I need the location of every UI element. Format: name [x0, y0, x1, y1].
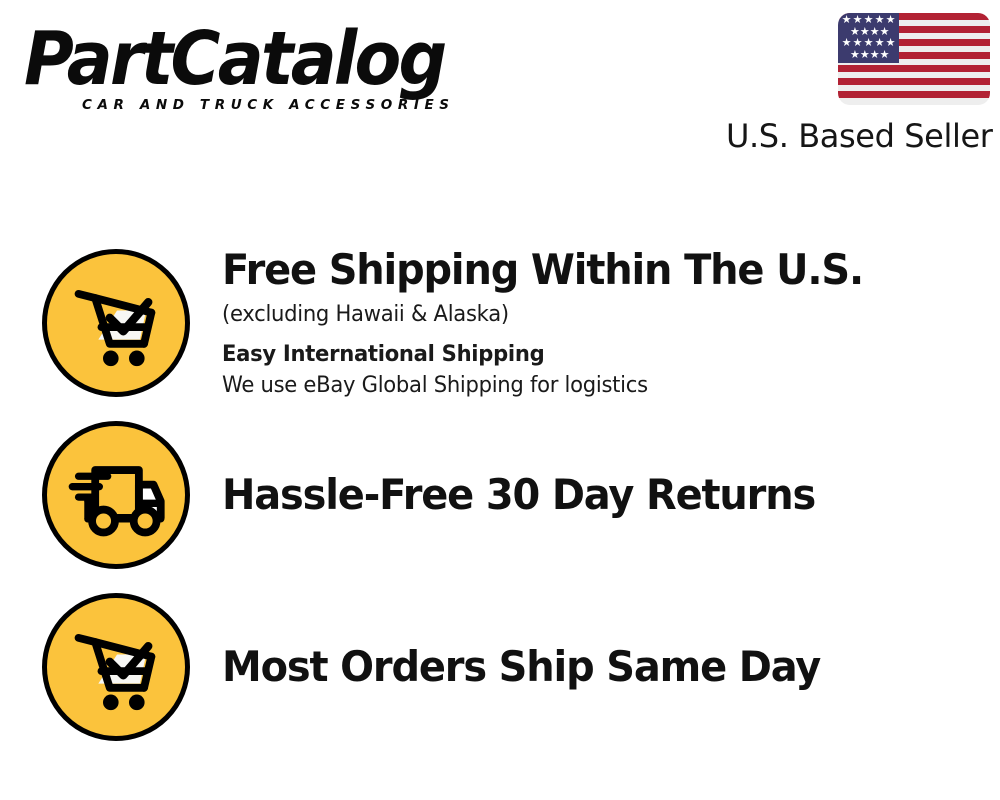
feature-row: Most Orders Ship Same Day: [0, 592, 1000, 742]
brand-logo: PartCatalog CAR AND TRUCK ACCESSORIES: [24, 22, 494, 118]
feature-subtext-detail: We use eBay Global Shipping for logistic…: [222, 371, 950, 401]
feature-title: Hassle-Free 30 Day Returns: [222, 471, 942, 519]
feature-text: Free Shipping Within The U.S. (excluding…: [222, 246, 1000, 401]
flag-canton: ★★★★★ ★★★★ ★★★★★ ★★★★: [838, 13, 899, 63]
feature-subtext-bold: Easy International Shipping: [222, 340, 950, 370]
us-based-seller-label: U.S. Based Seller: [726, 118, 984, 154]
feature-title: Most Orders Ship Same Day: [222, 643, 942, 691]
feature-text: Hassle-Free 30 Day Returns: [222, 471, 1000, 519]
feature-title: Free Shipping Within The U.S.: [222, 246, 942, 294]
shopping-cart-check-icon: [42, 593, 190, 741]
delivery-truck-icon: [42, 421, 190, 569]
us-flag-icon: ★★★★★ ★★★★ ★★★★★ ★★★★: [838, 13, 990, 105]
feature-subtext: (excluding Hawaii & Alaska): [222, 300, 950, 330]
brand-wordmark: PartCatalog: [24, 22, 456, 96]
feature-row: Free Shipping Within The U.S. (excluding…: [0, 233, 1000, 413]
feature-row: Hassle-Free 30 Day Returns: [0, 420, 1000, 570]
feature-text: Most Orders Ship Same Day: [222, 643, 1000, 691]
shopping-cart-check-icon: [42, 249, 190, 397]
